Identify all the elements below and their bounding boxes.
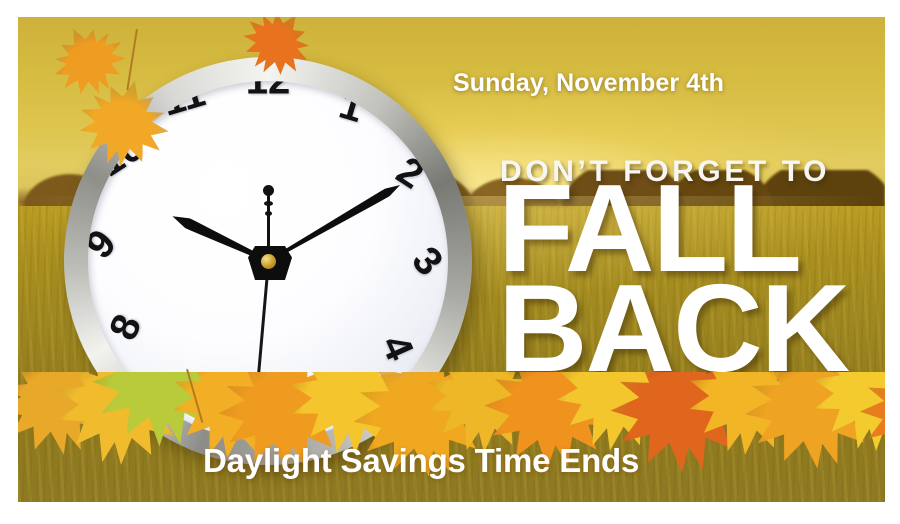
- date-line: Sunday, November 4th: [453, 69, 724, 98]
- footer-text: Daylight Savings Time Ends: [203, 442, 639, 480]
- clock-numeral-4: 4: [372, 329, 422, 368]
- fall-back-poster: 121234567891011 Sunday, November 4th DON…: [18, 17, 885, 502]
- headline-back: BACK: [498, 280, 848, 379]
- autumn-leaf-border: [18, 372, 885, 502]
- clock-tick: [268, 96, 343, 261]
- clock-hub-screw: [261, 254, 276, 269]
